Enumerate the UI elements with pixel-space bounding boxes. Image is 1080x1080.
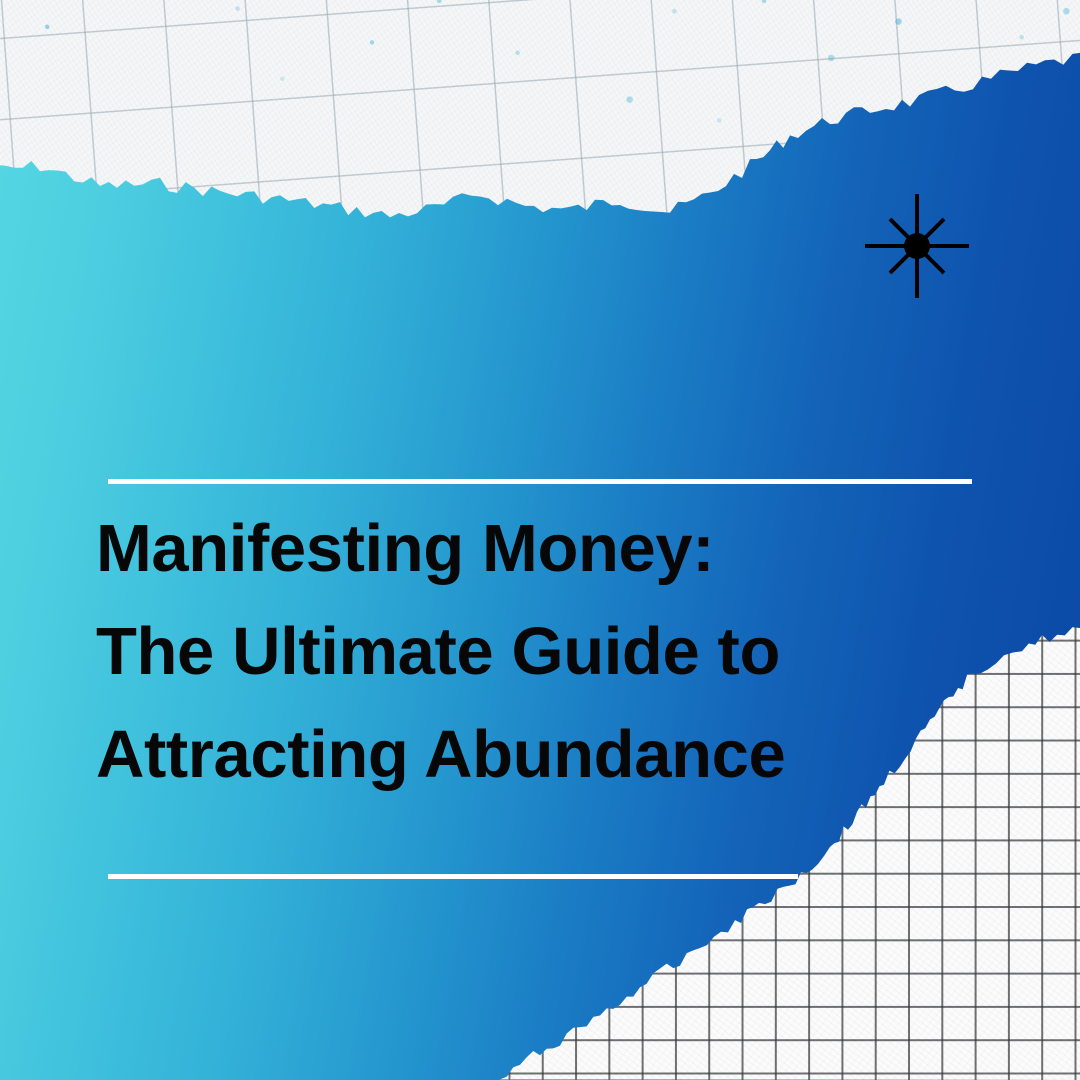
headline-rule-top [108, 479, 972, 484]
page-title: Manifesting Money: The Ultimate Guide to… [96, 497, 996, 806]
eight-point-sparkle-icon [857, 186, 977, 306]
headline-rule-bottom [108, 874, 798, 879]
poster-canvas: Manifesting Money: The Ultimate Guide to… [0, 0, 1080, 1080]
